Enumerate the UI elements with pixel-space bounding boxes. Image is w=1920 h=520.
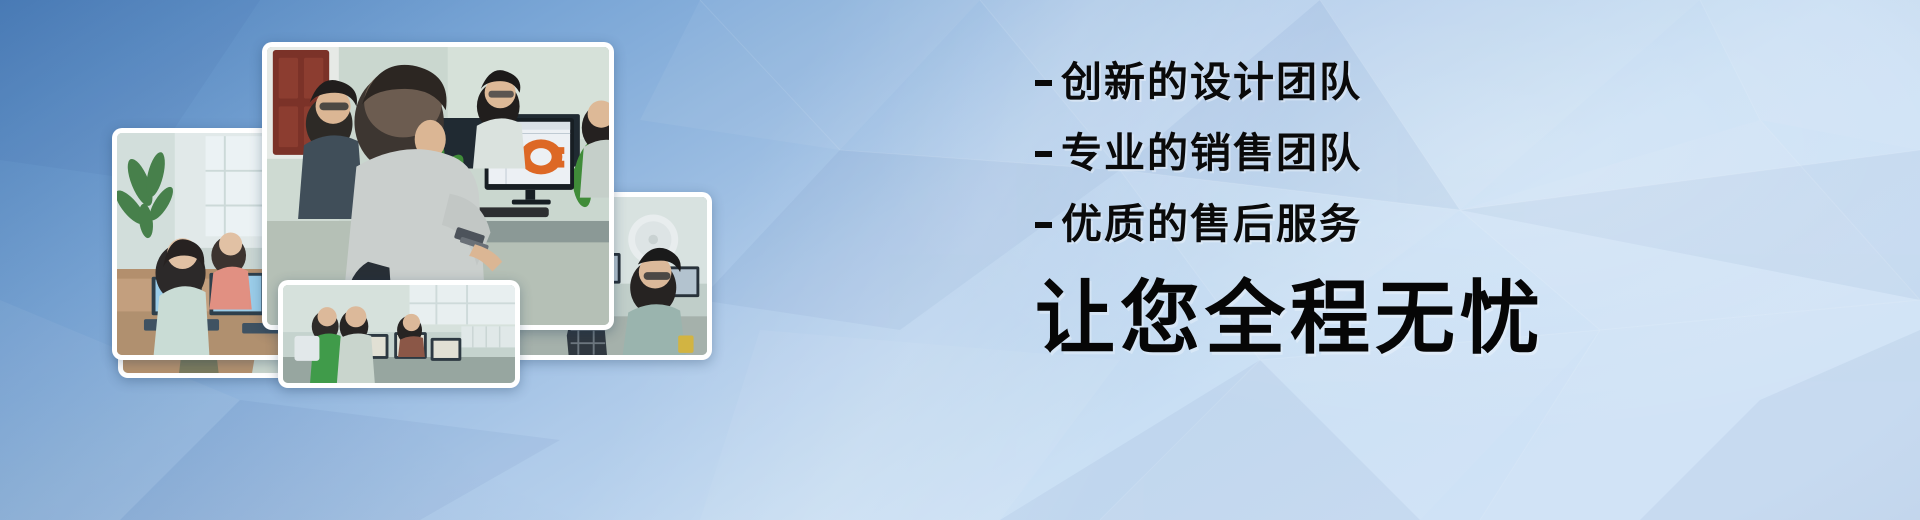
dash-icon [1035, 222, 1052, 228]
banner-headline: 让您全程无忧 [1035, 279, 1675, 359]
copy-block: 创新的设计团队 专业的销售团队 优质的售后服务 让您全程无忧 [1035, 62, 1675, 359]
feature-bullet-label: 创新的设计团队 [1061, 62, 1362, 103]
dash-icon [1035, 80, 1052, 86]
photo-collage [0, 0, 760, 520]
feature-bullet-item: 专业的销售团队 [1035, 133, 1675, 174]
collage-photo-team-working-at-computers [278, 280, 520, 388]
feature-bullet-list: 创新的设计团队 专业的销售团队 优质的售后服务 [1035, 62, 1675, 245]
dash-icon [1035, 151, 1052, 157]
feature-bullet-item: 创新的设计团队 [1035, 62, 1675, 103]
feature-bullet-item: 优质的售后服务 [1035, 204, 1675, 245]
feature-bullet-label: 专业的销售团队 [1061, 133, 1362, 174]
promo-banner: 创新的设计团队 专业的销售团队 优质的售后服务 让您全程无忧 [0, 0, 1920, 520]
feature-bullet-label: 优质的售后服务 [1061, 204, 1362, 245]
